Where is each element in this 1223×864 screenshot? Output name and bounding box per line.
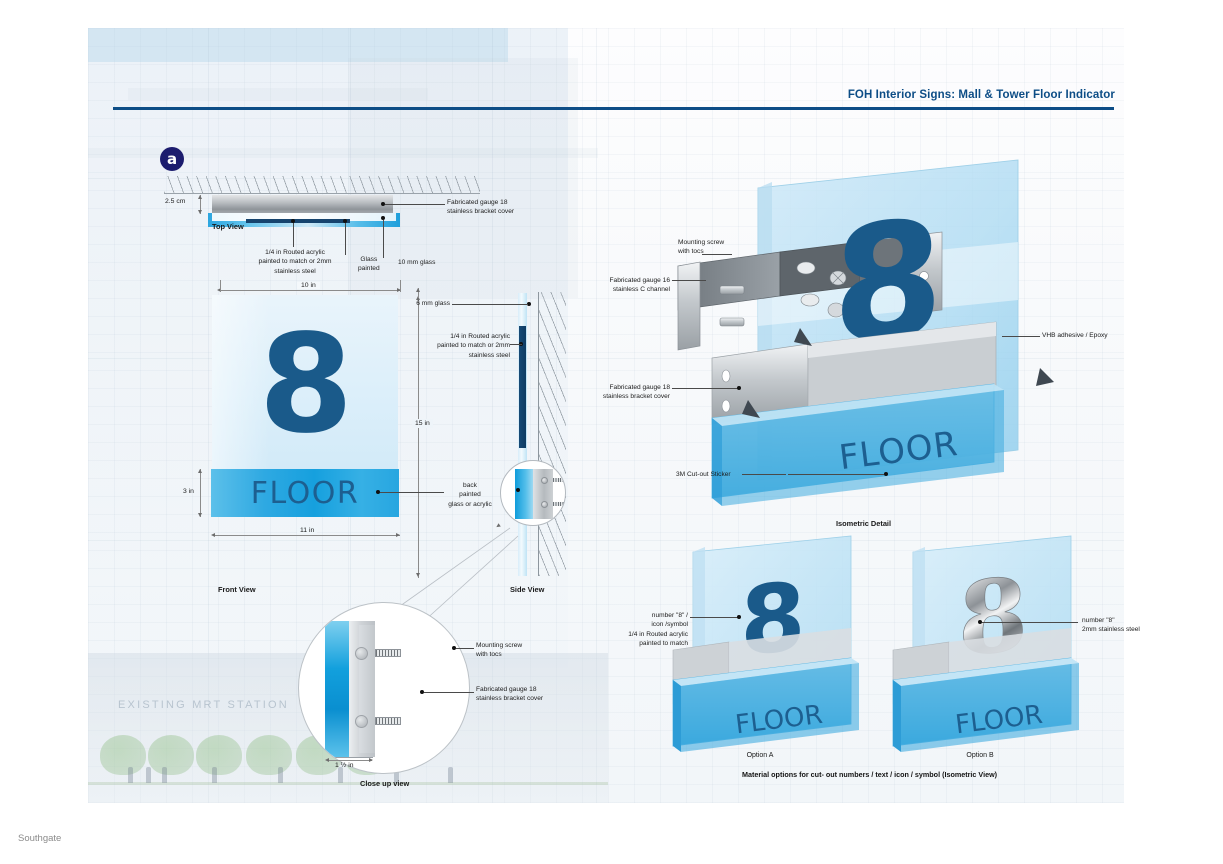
label-option-b: Option B [925,752,1035,759]
anno-side-acrylic: 1/4 in Routed acrylic painted to match o… [428,332,510,360]
label-top-view: Top View [212,222,244,231]
header-rule [113,107,1114,110]
option-a-drawing: 8 FLOOR [655,530,885,760]
front-view-floor-text: FLOOR [211,469,399,517]
background-mrt-label: EXISTING MRT STATION [118,699,289,711]
dim-line [418,296,419,578]
anno-iso-bracket-cover: Fabricated gauge 18 stainless bracket co… [592,383,670,402]
label-front-view: Front View [218,585,256,594]
dim-top-thickness: 2.5 cm [165,198,185,205]
dim-line [214,535,400,536]
options-caption: Material options for cut- out numbers / … [742,770,997,779]
anno-iso-sticker: 3M Cut-out Sticker [676,470,731,479]
anno-side-6mm-glass: 6 mm glass [400,299,450,308]
anno-closeup-bracket: Fabricated gauge 18 stainless bracket co… [476,685,543,704]
anno-iso-vhb: VHB adhesive / Epoxy [1042,331,1108,340]
section-badge-a: a [160,147,184,171]
anno-option-a: number "8" / icon /symbol 1/4 in Routed … [600,611,688,648]
footer-project-name: Southgate [18,833,61,844]
isometric-detail-drawing: 8 FLOOR [660,150,1060,550]
background-sky [88,28,508,62]
front-view-number: 8 [212,300,398,470]
option-b-drawing: 8 FLOOR [875,530,1105,760]
dim-line [200,469,201,517]
anno-top-bracket-cover: Fabricated gauge 18 stainless bracket co… [447,198,514,217]
top-view-acrylic-strip [246,219,350,223]
anno-top-glass-painted: Glass painted [358,255,380,274]
dim-front-width-total: 11 in [297,527,317,534]
anno-back-painted: back painted glass or acrylic [444,481,496,509]
side-view-wall-hatch [538,292,566,576]
dim-line [328,760,372,761]
spec-sheet-page: EXISTING MRT STATION FOH Interior Signs:… [0,0,1223,864]
dim-closeup-depth: 1 ½ in [335,762,354,769]
top-view-ceiling-hatch [164,176,480,194]
label-isometric-detail: Isometric Detail [836,519,891,528]
anno-top-acrylic: 1/4 in Routed acrylic painted to match o… [246,248,344,276]
label-option-a: Option A [705,752,815,759]
label-side-view: Side View [510,585,544,594]
anno-closeup-screw: Mounting screw with tocs [476,641,522,660]
dim-front-band-height: 3 in [183,488,194,495]
page-title: FOH Interior Signs: Mall & Tower Floor I… [848,89,1115,101]
top-view-bracket-cover [212,195,393,214]
anno-option-b: number "8" 2mm stainless steel [1082,616,1140,635]
dim-line [220,290,400,291]
anno-iso-c-channel: Fabricated gauge 16 stainless C channel [592,276,670,295]
anno-top-10mm-glass: 10 mm glass [398,258,435,267]
dim-front-height: 15 in [412,419,433,428]
close-up-detail-circle [298,602,470,774]
dim-front-width-top: 10 in [297,282,320,289]
label-close-up-view: Close up view [360,779,409,788]
side-view-detail-circle [500,460,566,526]
